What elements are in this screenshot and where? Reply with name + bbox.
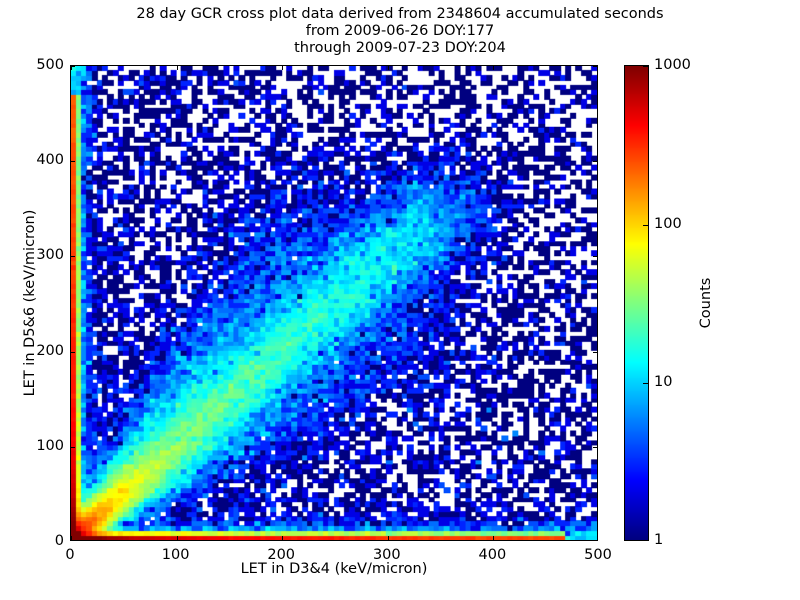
x-tick-mark bbox=[177, 66, 178, 70]
y-tick-label: 0 bbox=[28, 533, 64, 549]
x-tick-mark bbox=[282, 66, 283, 70]
y-tick-mark bbox=[71, 66, 75, 67]
y-tick-label: 100 bbox=[28, 438, 64, 454]
y-axis-label: LET in D5&6 (keV/micron) bbox=[22, 210, 38, 397]
x-tick-mark bbox=[388, 536, 389, 540]
y-tick-mark bbox=[593, 352, 597, 353]
y-tick-mark bbox=[593, 66, 597, 67]
x-tick-mark bbox=[493, 66, 494, 70]
x-axis-label: LET in D3&4 (keV/micron) bbox=[70, 561, 598, 577]
y-tick-mark bbox=[71, 256, 75, 257]
y-tick-mark bbox=[593, 256, 597, 257]
colorbar-title: Counts bbox=[698, 278, 714, 329]
y-tick-mark bbox=[71, 161, 75, 162]
colorbar-tick-label: 1000 bbox=[654, 57, 691, 73]
y-tick-mark bbox=[593, 447, 597, 448]
title-line-1: 28 day GCR cross plot data derived from … bbox=[0, 6, 800, 23]
colorbar bbox=[624, 65, 649, 541]
colorbar-tick-mark bbox=[643, 66, 648, 67]
y-tick-mark bbox=[593, 161, 597, 162]
colorbar-gradient bbox=[625, 66, 648, 540]
title-line-2: from 2009-06-26 DOY:177 bbox=[0, 23, 800, 40]
figure-canvas: 28 day GCR cross plot data derived from … bbox=[0, 0, 800, 600]
x-tick-mark bbox=[71, 536, 72, 540]
y-tick-label: 400 bbox=[28, 152, 64, 168]
x-tick-mark bbox=[493, 536, 494, 540]
y-tick-label: 500 bbox=[28, 57, 64, 73]
colorbar-tick-label: 100 bbox=[654, 216, 682, 232]
x-tick-mark bbox=[388, 66, 389, 70]
chart-title: 28 day GCR cross plot data derived from … bbox=[0, 6, 800, 57]
title-line-3: through 2009-07-23 DOY:204 bbox=[0, 40, 800, 57]
y-tick-mark bbox=[71, 352, 75, 353]
x-tick-mark bbox=[282, 536, 283, 540]
plot-axes bbox=[70, 65, 598, 541]
y-tick-mark bbox=[71, 447, 75, 448]
colorbar-tick-mark bbox=[643, 225, 648, 226]
colorbar-tick-label: 10 bbox=[654, 374, 672, 390]
colorbar-tick-mark bbox=[643, 383, 648, 384]
colorbar-tick-label: 1 bbox=[654, 532, 663, 548]
scatter-density-plot bbox=[71, 66, 597, 540]
x-tick-mark bbox=[177, 536, 178, 540]
